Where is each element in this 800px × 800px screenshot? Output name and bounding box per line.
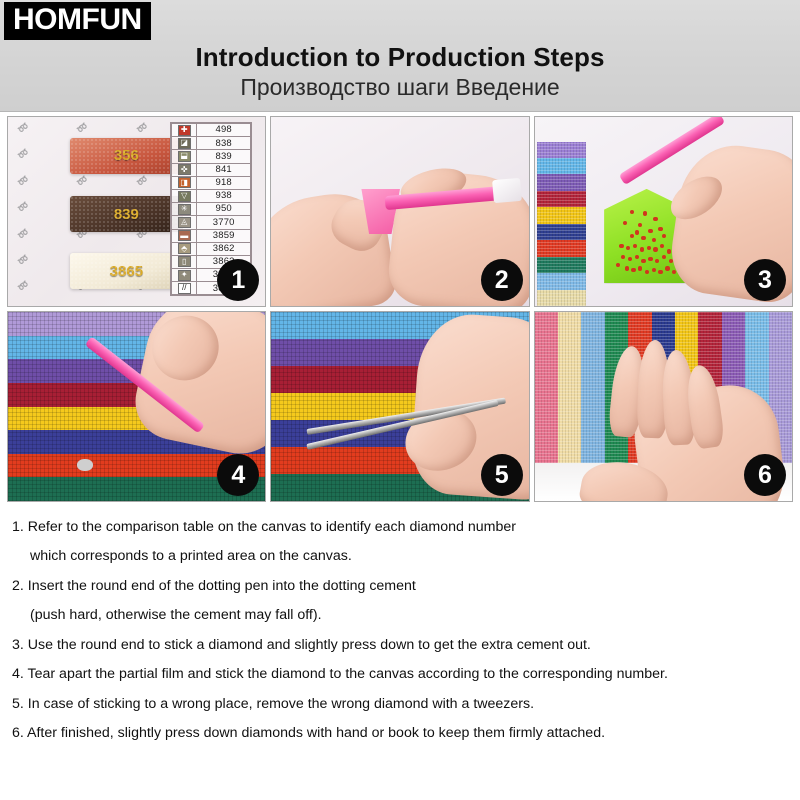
step-badge: 5 [481, 454, 523, 496]
canvas-stripe [537, 224, 586, 240]
diamond-bead [667, 249, 671, 253]
color-symbol-cell: ▬ [172, 229, 197, 242]
diamond-bead [638, 266, 642, 270]
diamond-bead [628, 257, 632, 261]
table-row: ⬓839 [172, 150, 251, 163]
table-row: ◪838 [172, 137, 251, 150]
film-watermark-icon: ➿ [16, 147, 32, 163]
diamond-bead [653, 217, 657, 221]
instruction-line: (push hard, otherwise the cement may fal… [12, 601, 794, 631]
film-watermark-icon: ➿ [16, 226, 32, 242]
table-row: ⬘3862 [172, 242, 251, 255]
film-watermark-icon: ➿ [16, 253, 32, 269]
bag-grain [70, 138, 183, 174]
color-symbol-cell: ◪ [172, 137, 197, 150]
color-symbol-cell: ▽ [172, 189, 197, 202]
diamond-bag-3865: 3865 [70, 253, 183, 289]
dmc-number-cell: 841 [197, 163, 251, 176]
diamond-bead [665, 266, 669, 270]
instructions-list: 1. Refer to the comparison table on the … [12, 512, 794, 748]
dmc-number-cell: 938 [197, 189, 251, 202]
brand-name: HOMFUN [13, 5, 142, 35]
diamond-bead [662, 255, 666, 259]
canvas-stripe [537, 158, 586, 174]
color-swatch-icon: ⬓ [178, 151, 191, 162]
color-symbol-cell: ✜ [172, 163, 197, 176]
color-swatch-icon: ▬ [178, 230, 191, 241]
color-swatch-icon: // [178, 283, 191, 294]
canvas-strip [537, 142, 586, 306]
dmc-number-cell: 918 [197, 176, 251, 189]
instruction-line: 6. After finished, slightly press down d… [12, 719, 794, 749]
diamond-bead [643, 211, 647, 215]
panel-press-down: 6 [534, 311, 793, 502]
homfun-logo: HOMFUN [4, 2, 151, 40]
diamond-bead [633, 244, 637, 248]
film-watermark-icon: ➿ [134, 120, 150, 136]
canvas-stripe [537, 257, 586, 273]
table-row: ▽938 [172, 189, 251, 202]
diamond-bead [648, 257, 652, 261]
color-swatch-icon: ✜ [178, 164, 191, 175]
color-symbol-cell: ⬘ [172, 242, 197, 255]
color-swatch-icon: ▽ [178, 191, 191, 202]
film-watermark-icon: ➿ [134, 173, 150, 189]
instruction-line: 5. In case of sticking to a wrong place,… [12, 689, 794, 719]
step-badge: 6 [744, 454, 786, 496]
instruction-continuation: which corresponds to a printed area on t… [30, 549, 352, 563]
film-watermark-icon: ➿ [16, 120, 32, 136]
film-watermark-icon: ➿ [16, 200, 32, 216]
dmc-number-cell: 839 [197, 150, 251, 163]
color-swatch-icon: ▯ [178, 256, 191, 267]
canvas-stripe [537, 174, 586, 190]
diamond-bead [660, 244, 664, 248]
diamond-bead [635, 255, 639, 259]
dmc-number-cell: 3859 [197, 229, 251, 242]
panel-color-chart: ➿➿➿➿➿➿➿➿➿➿➿➿➿➿➿➿➿➿➿➿➿ 356 839 3865 ✚498◪… [7, 116, 266, 307]
diamond-bead [648, 229, 652, 233]
instruction-line: 3. Use the round end to stick a diamond … [12, 630, 794, 660]
instruction-line: 1. Refer to the comparison table on the … [12, 512, 794, 542]
diamond-bead [626, 246, 630, 250]
diamond-bead [652, 238, 656, 242]
diamond-bead [623, 221, 627, 225]
table-row: ◬3770 [172, 216, 251, 229]
diamond-bead [625, 266, 629, 270]
canvas-stripe [535, 312, 558, 463]
diamond-bag-839: 839 [70, 196, 183, 232]
diamond-bead [658, 227, 662, 231]
diamond-bead [616, 263, 620, 267]
film-watermark-icon: ➿ [16, 279, 32, 295]
color-swatch-icon: ✳ [178, 204, 191, 215]
color-symbol-cell: ▯ [172, 255, 197, 268]
page-header: HOMFUN Introduction to Production Steps … [0, 0, 800, 112]
instruction-text: 5. In case of sticking to a wrong place,… [12, 697, 534, 711]
table-row: ▬3859 [172, 229, 251, 242]
bag-grain [70, 253, 183, 289]
color-swatch-icon: ◪ [178, 138, 191, 149]
diamond-bead [641, 236, 645, 240]
canvas-stripe [537, 191, 586, 207]
table-row: ✜841 [172, 163, 251, 176]
diamond-bead [647, 246, 651, 250]
diamond-bead [635, 230, 639, 234]
diamond-bead [658, 270, 662, 274]
diamond-bead [652, 268, 656, 272]
film-watermark-icon: ➿ [16, 173, 32, 189]
instruction-continuation: (push hard, otherwise the cement may fal… [30, 608, 322, 622]
dmc-number-cell: 3862 [197, 242, 251, 255]
canvas-stripe [537, 142, 586, 158]
color-swatch-icon: ◬ [178, 217, 191, 228]
instruction-text: 4. Tear apart the partial film and stick… [12, 667, 668, 681]
diamond-bead [653, 247, 657, 251]
instruction-text: 3. Use the round end to stick a diamond … [12, 638, 591, 652]
diamond-bead [619, 244, 623, 248]
film-watermark-icon: ➿ [75, 173, 91, 189]
table-row: ◨918 [172, 176, 251, 189]
steps-grid: ➿➿➿➿➿➿➿➿➿➿➿➿➿➿➿➿➿➿➿➿➿ 356 839 3865 ✚498◪… [7, 116, 793, 502]
diamond-bead [631, 268, 635, 272]
diamond-bead [630, 210, 634, 214]
dmc-number-cell: 950 [197, 203, 251, 216]
diamond-bead [630, 234, 634, 238]
instruction-line: 4. Tear apart the partial film and stick… [12, 660, 794, 690]
color-symbol-cell: ◬ [172, 216, 197, 229]
diamond-bead [640, 247, 644, 251]
film-watermark-icon: ➿ [75, 120, 91, 136]
color-swatch-icon: ◨ [178, 177, 191, 188]
canvas-stripe [581, 312, 604, 463]
canvas-stripe [537, 290, 586, 306]
table-row: ✚498 [172, 124, 251, 137]
panel-place-diamond: 4 [7, 311, 266, 502]
canvas-stripe [537, 273, 586, 289]
canvas-stripe [558, 312, 581, 463]
dmc-number-cell: 498 [197, 124, 251, 137]
color-symbol-cell: ⬓ [172, 150, 197, 163]
page-title-english: Introduction to Production Steps [0, 42, 800, 73]
color-symbol-cell: ✦ [172, 269, 197, 282]
diamond-bag-356: 356 [70, 138, 183, 174]
diamond-bead [621, 255, 625, 259]
diamond-bead [655, 259, 659, 263]
instruction-text: 6. After finished, slightly press down d… [12, 726, 605, 740]
color-symbol-cell: ◨ [172, 176, 197, 189]
diamond-bead [641, 259, 645, 263]
diamond-bead [662, 234, 666, 238]
step-badge: 3 [744, 259, 786, 301]
panel-tweezers: 5 [270, 311, 529, 502]
color-swatch-icon: ✚ [178, 125, 191, 136]
table-row: ✳950 [172, 203, 251, 216]
canvas-stripe [537, 240, 586, 256]
bag-grain [70, 196, 183, 232]
color-symbol-cell: // [172, 282, 197, 295]
color-symbol-cell: ✳ [172, 203, 197, 216]
dmc-number-cell: 838 [197, 137, 251, 150]
color-swatch-icon: ⬘ [178, 243, 191, 254]
panel-insert-pen: 2 [270, 116, 529, 307]
canvas-stripe [537, 207, 586, 223]
diamond-bead [638, 223, 642, 227]
dmc-number-cell: 3770 [197, 216, 251, 229]
color-symbol-cell: ✚ [172, 124, 197, 137]
instruction-line: which corresponds to a printed area on t… [12, 542, 794, 572]
panel-pick-diamond: 3 [534, 116, 793, 307]
instruction-text: 1. Refer to the comparison table on the … [12, 520, 516, 534]
page-title-russian: Производство шаги Введение [0, 74, 800, 101]
color-swatch-icon: ✦ [178, 270, 191, 281]
pen-tip [77, 459, 92, 470]
pen-cap [492, 178, 522, 203]
step-badge: 2 [481, 259, 523, 301]
instruction-line: 2. Insert the round end of the dotting p… [12, 571, 794, 601]
diamond-bead [645, 270, 649, 274]
instruction-text: 2. Insert the round end of the dotting p… [12, 579, 416, 593]
